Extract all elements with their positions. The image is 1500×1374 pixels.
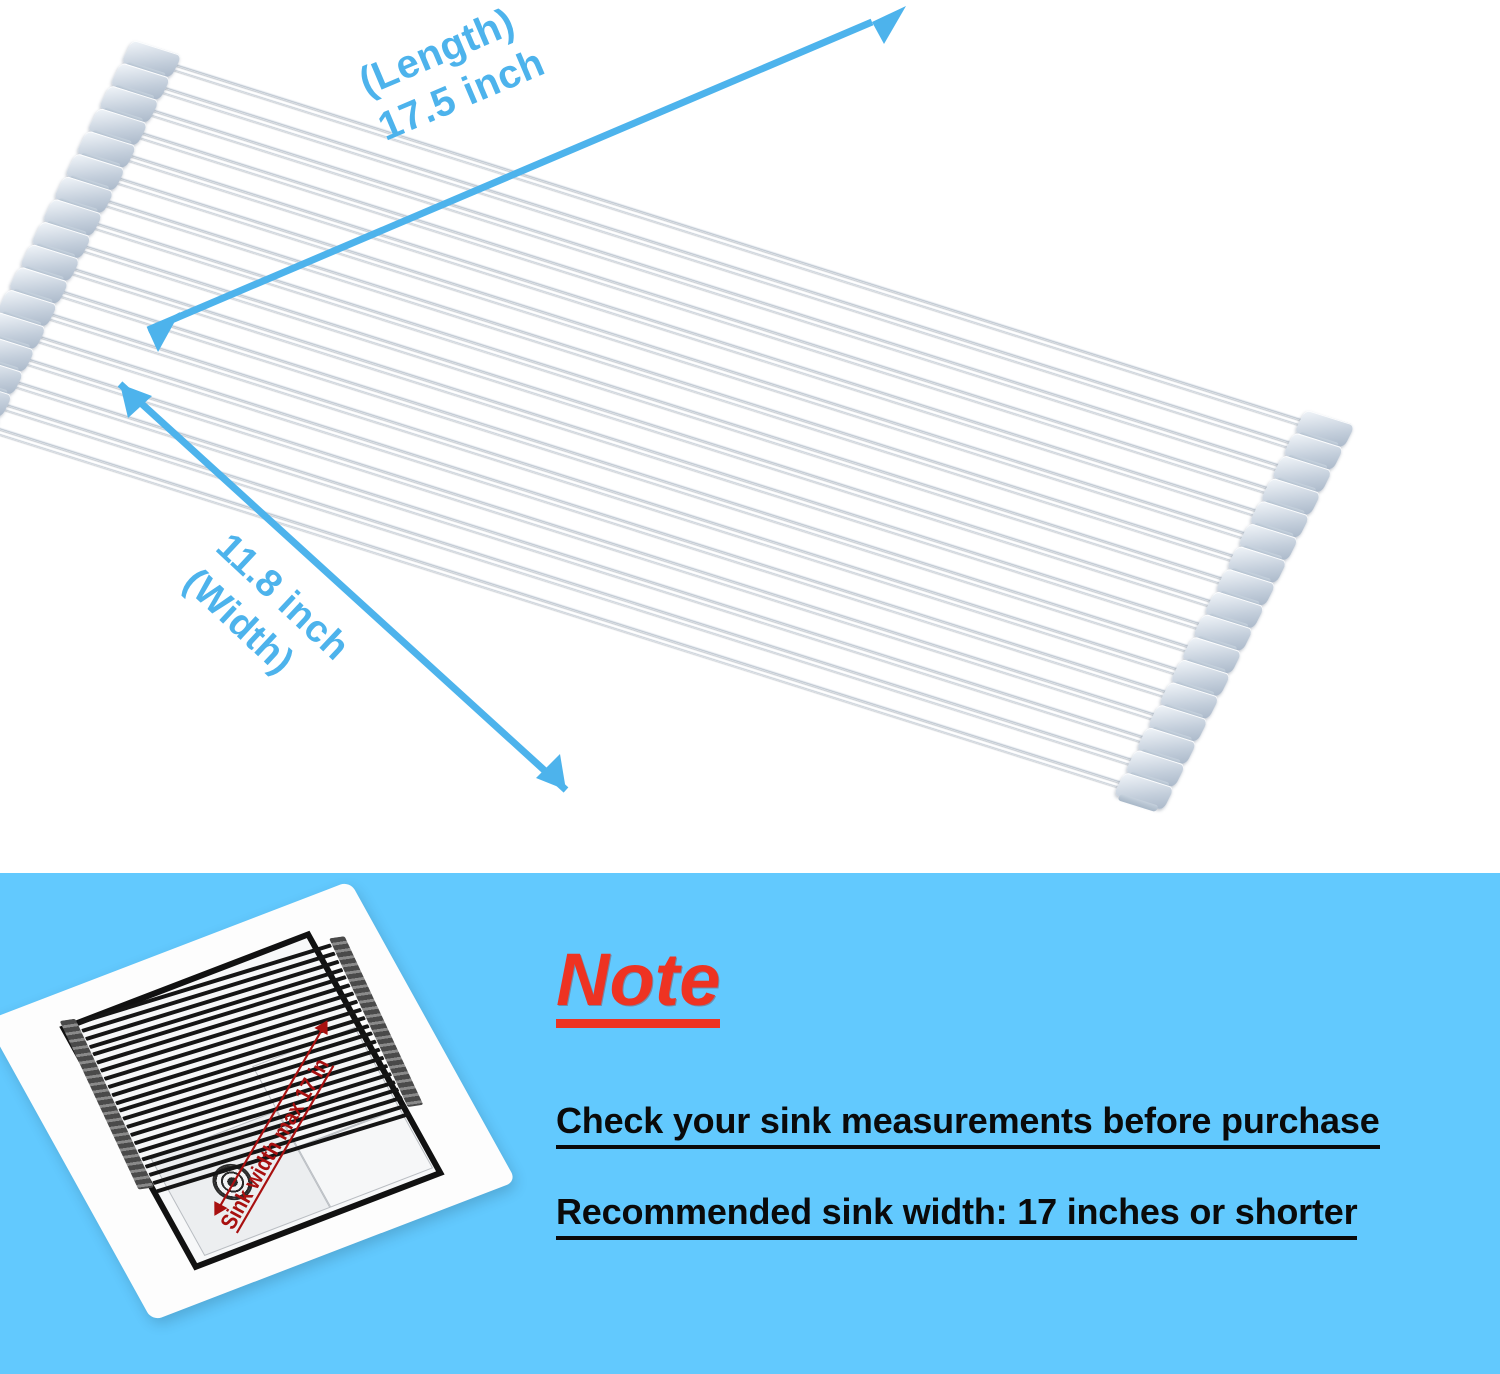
note-text-block: Note Check your sink measurements before… <box>556 943 1476 1240</box>
note-line-2: Recommended sink width: 17 inches or sho… <box>556 1191 1357 1240</box>
roll-up-rack-graphic <box>0 52 1328 784</box>
product-infographic: (Length) 17.5 inch 11.8 inch (Width) <box>0 0 1500 1374</box>
note-line-1: Check your sink measurements before purc… <box>556 1100 1380 1149</box>
note-panel: Sink width max 17 in Note Check your sin… <box>0 873 1500 1374</box>
note-heading: Note <box>556 943 720 1028</box>
countertop: Sink width max 17 in <box>0 881 516 1321</box>
rack-illustration <box>0 0 1500 873</box>
product-dimensions-panel: (Length) 17.5 inch 11.8 inch (Width) <box>0 0 1500 873</box>
sink-basin <box>59 931 444 1271</box>
sink-illustration: Sink width max 17 in <box>18 891 518 1361</box>
